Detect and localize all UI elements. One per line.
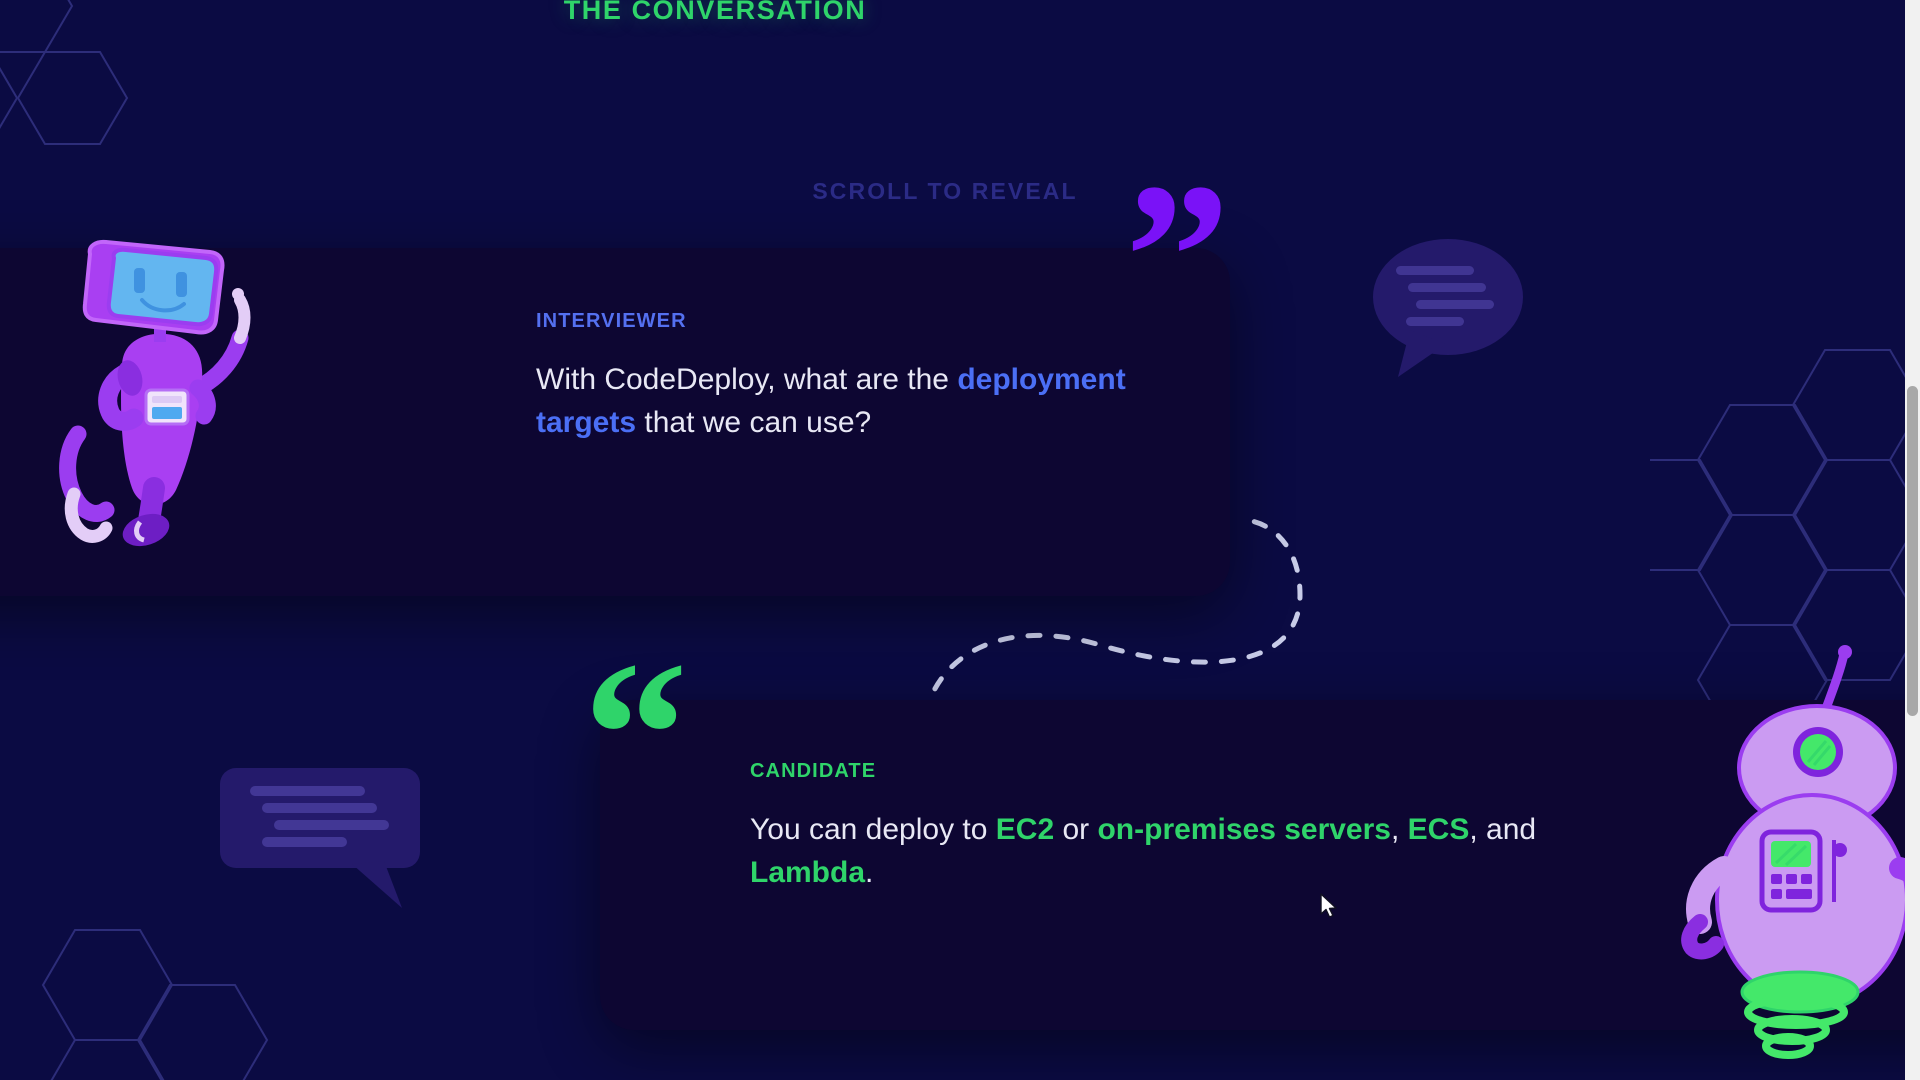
scrollbar-thumb[interactable] <box>1907 386 1918 716</box>
text-segment: on-premises servers <box>1097 813 1391 846</box>
speech-bubble-icon <box>212 756 452 936</box>
utterance-candidate: You can deploy to EC2 or on-premises ser… <box>750 809 1610 895</box>
jetpack-robot-icon <box>1672 640 1920 1060</box>
quote-mark-close-icon: ” <box>1125 182 1230 333</box>
text-segment: With CodeDeploy, what are the <box>536 363 957 396</box>
section-title: THE CONVERSATION <box>0 0 1430 26</box>
page-root: THE CONVERSATION SCROLL TO REVEAL INTERV… <box>0 0 1920 1080</box>
scroll-hint-label: SCROLL TO REVEAL <box>0 178 1890 205</box>
text-segment: or <box>1054 813 1097 846</box>
text-segment: Lambda <box>750 856 865 889</box>
quote-mark-open-icon: “ <box>583 660 688 811</box>
speech-bubble-icon <box>1368 232 1528 382</box>
tv-head-robot-icon <box>58 238 268 548</box>
mouse-cursor-icon <box>1319 893 1339 921</box>
text-segment: . <box>865 856 873 889</box>
text-segment: ECS <box>1408 813 1470 846</box>
text-segment: , <box>1391 813 1408 846</box>
utterance-interviewer: With CodeDeploy, what are the deployment… <box>536 359 1136 445</box>
text-segment: , and <box>1469 813 1536 846</box>
text-segment: You can deploy to <box>750 813 996 846</box>
speaker-label-interviewer: INTERVIEWER <box>536 310 1150 333</box>
text-segment: EC2 <box>996 813 1054 846</box>
text-segment: that we can use? <box>636 406 871 439</box>
hexagon-pattern-icon <box>30 920 290 1080</box>
